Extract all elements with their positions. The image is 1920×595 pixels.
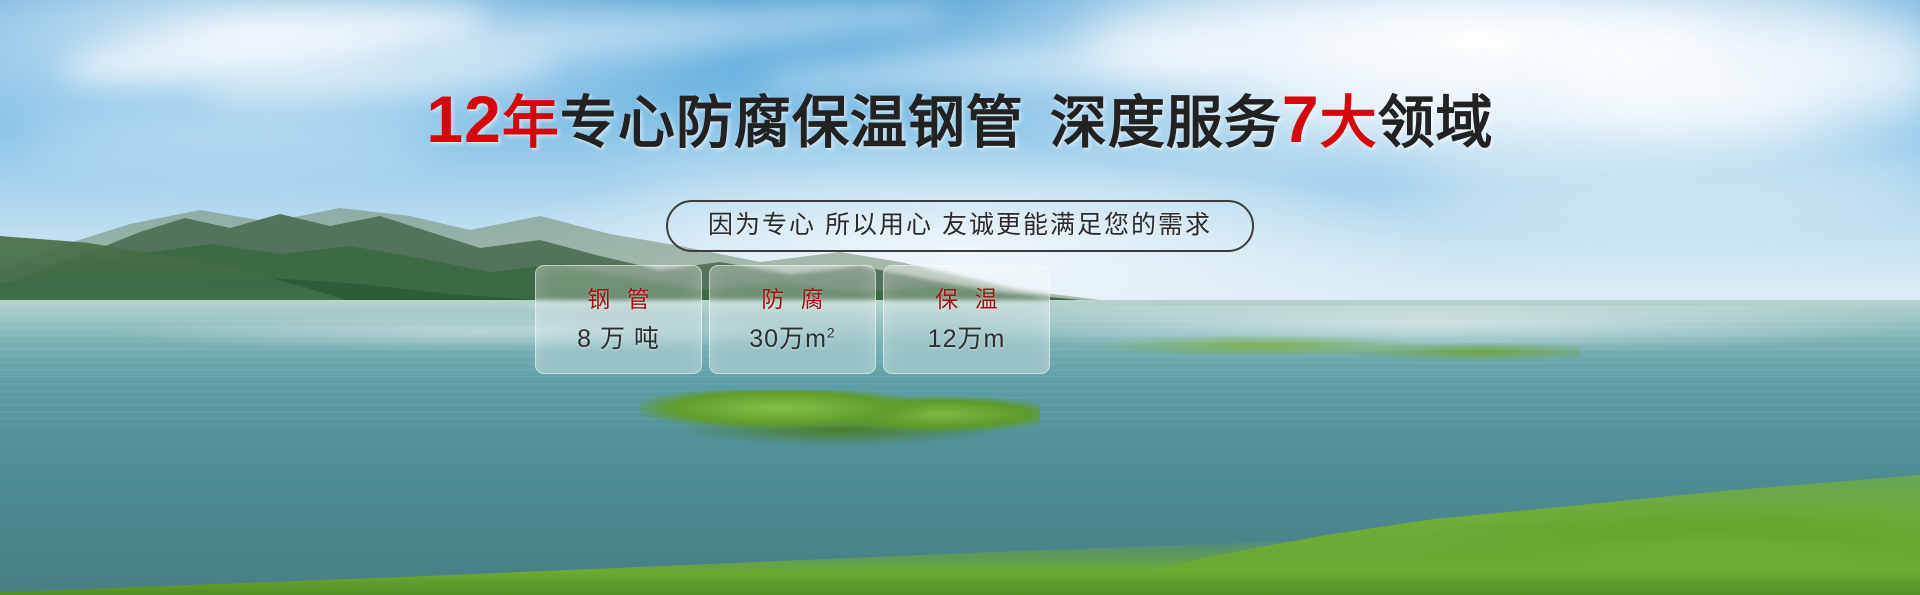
headline-years-number: 12 (426, 82, 501, 156)
promo-banner: 12年专心防腐保温钢管深度服务7大领域 因为专心 所以用心 友诚更能满足您的需求… (0, 0, 1920, 595)
stat-card-value: 12万m (928, 324, 1006, 354)
stat-card-value-text: 12万m (928, 325, 1006, 353)
stat-card-anticorrosion[interactable]: 防 腐 30万m2 (709, 265, 876, 374)
stat-card-title: 保 温 (930, 285, 1002, 313)
stat-card-value: 30万m2 (749, 324, 835, 354)
stat-card-value-text: 8 万 吨 (577, 325, 660, 353)
stat-card-title: 钢 管 (582, 285, 654, 313)
headline-service-text: 深度服务 (1050, 91, 1282, 155)
headline-years-unit: 年 (502, 91, 560, 155)
banner-headline: 12年专心防腐保温钢管深度服务7大领域 (0, 88, 1920, 154)
stat-card-value-text: 30万m (749, 325, 827, 353)
stats-card-group: 钢 管 8 万 吨 防 腐 30万m2 保 温 12万m (535, 265, 1050, 374)
headline-fields-unit: 大 (1320, 91, 1378, 155)
stat-card-insulation[interactable]: 保 温 12万m (883, 265, 1050, 374)
headline-fields-number: 7 (1282, 82, 1320, 156)
stat-card-value-superscript: 2 (827, 325, 836, 341)
stat-card-steel-pipe[interactable]: 钢 管 8 万 吨 (535, 265, 702, 374)
stat-card-value: 8 万 吨 (577, 324, 660, 354)
banner-subtitle-pill: 因为专心 所以用心 友诚更能满足您的需求 (666, 200, 1254, 252)
stat-card-title: 防 腐 (756, 285, 828, 313)
headline-fields-text: 领域 (1378, 91, 1494, 155)
headline-main-text: 专心防腐保温钢管 (560, 91, 1024, 155)
